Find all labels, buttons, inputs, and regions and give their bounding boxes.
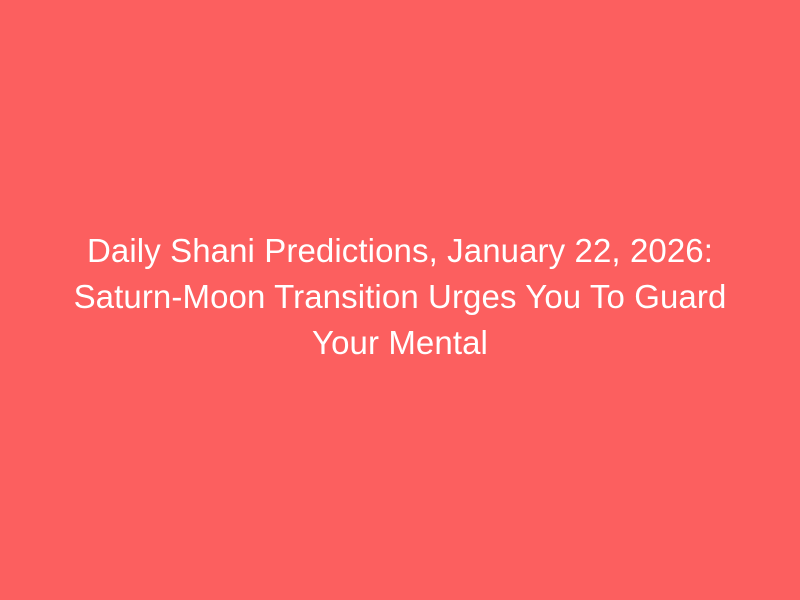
page-title: Daily Shani Predictions, January 22, 202… — [68, 228, 732, 366]
headline-block: Daily Shani Predictions, January 22, 202… — [68, 228, 732, 366]
article-placeholder-card: Daily Shani Predictions, January 22, 202… — [0, 0, 800, 600]
